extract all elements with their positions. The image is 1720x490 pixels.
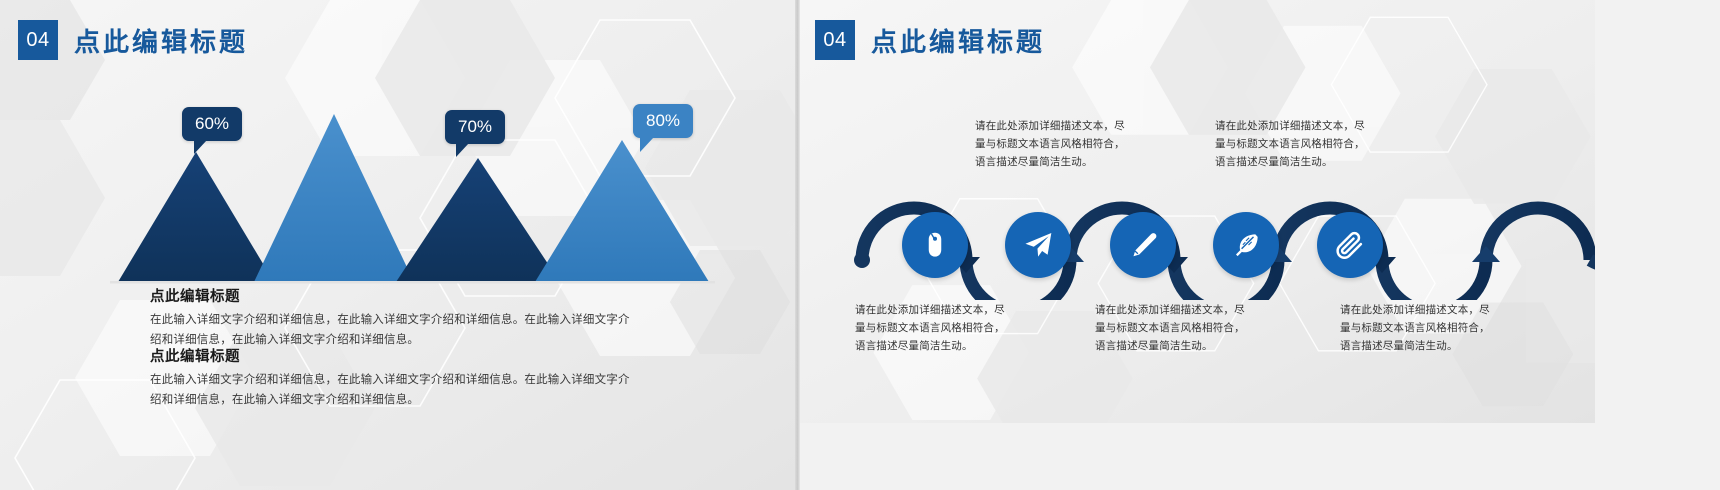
- page-title: 点此编辑标题: [871, 22, 1045, 59]
- pencil-icon: [1128, 230, 1158, 260]
- value-bubble-2-label: 70%: [458, 117, 492, 137]
- step-circle-4[interactable]: [1213, 212, 1279, 278]
- slide-left: 04 点此编辑标题 60%: [0, 0, 795, 490]
- header-right: 04 点此编辑标题: [815, 20, 1045, 60]
- mountain-chart: 60% 70% 80%: [0, 0, 795, 300]
- text-block-1: 点此编辑标题 在此输入详细文字介绍和详细信息，在此输入详细文字介绍和详细信息。在…: [150, 285, 630, 350]
- feather-icon: [1231, 230, 1261, 260]
- value-bubble-3: 80%: [633, 104, 693, 138]
- mountain-bar-1: [118, 152, 274, 282]
- text-block-2-title: 点此编辑标题: [150, 345, 630, 366]
- step-caption-2: 请在此处添加详细描述文本，尽量与标题文本语言风格相符合，语言描述尽量简洁生动。: [975, 118, 1125, 172]
- step-caption-3: 请在此处添加详细描述文本，尽量与标题文本语言风格相符合，语言描述尽量简洁生动。: [1095, 302, 1245, 356]
- section-number-badge: 04: [815, 20, 855, 60]
- mountain-chart-svg: [0, 0, 795, 300]
- bubble-tail-icon: [194, 140, 207, 154]
- text-block-2-body: 在此输入详细文字介绍和详细信息，在此输入详细文字介绍和详细信息。在此输入详细文字…: [150, 370, 630, 410]
- text-block-1-title: 点此编辑标题: [150, 285, 630, 306]
- mountain-bar-2: [254, 114, 414, 282]
- slide-right: 04 点此编辑标题: [800, 0, 1595, 490]
- bubble-tail-icon: [456, 143, 469, 157]
- paperclip-icon: [1335, 230, 1365, 260]
- value-bubble-1-label: 60%: [195, 114, 229, 134]
- curve-arc-6: [1382, 260, 1486, 300]
- mouse-icon: [920, 230, 950, 260]
- bubble-tail-icon: [640, 137, 654, 152]
- step-circle-5[interactable]: [1317, 212, 1383, 278]
- step-caption-1: 请在此处添加详细描述文本，尽量与标题文本语言风格相符合，语言描述尽量简洁生动。: [855, 302, 1005, 356]
- value-bubble-1: 60%: [182, 107, 242, 141]
- mountain-bar-3: [396, 158, 560, 282]
- value-bubble-2: 70%: [445, 110, 505, 144]
- arrow-up-icon: [1472, 246, 1500, 262]
- curve-arc-7: [1486, 208, 1590, 260]
- step-circle-1[interactable]: [902, 212, 968, 278]
- text-block-2: 点此编辑标题 在此输入详细文字介绍和详细信息，在此输入详细文字介绍和详细信息。在…: [150, 345, 630, 410]
- step-caption-4: 请在此处添加详细描述文本，尽量与标题文本语言风格相符合，语言描述尽量简洁生动。: [1215, 118, 1365, 172]
- value-bubble-3-label: 80%: [646, 111, 680, 131]
- mountain-bar-4: [535, 140, 709, 282]
- step-circle-3[interactable]: [1110, 212, 1176, 278]
- step-caption-5: 请在此处添加详细描述文本，尽量与标题文本语言风格相符合，语言描述尽量简洁生动。: [1340, 302, 1490, 356]
- step-circle-2[interactable]: [1005, 212, 1071, 278]
- paper-plane-icon: [1022, 229, 1054, 261]
